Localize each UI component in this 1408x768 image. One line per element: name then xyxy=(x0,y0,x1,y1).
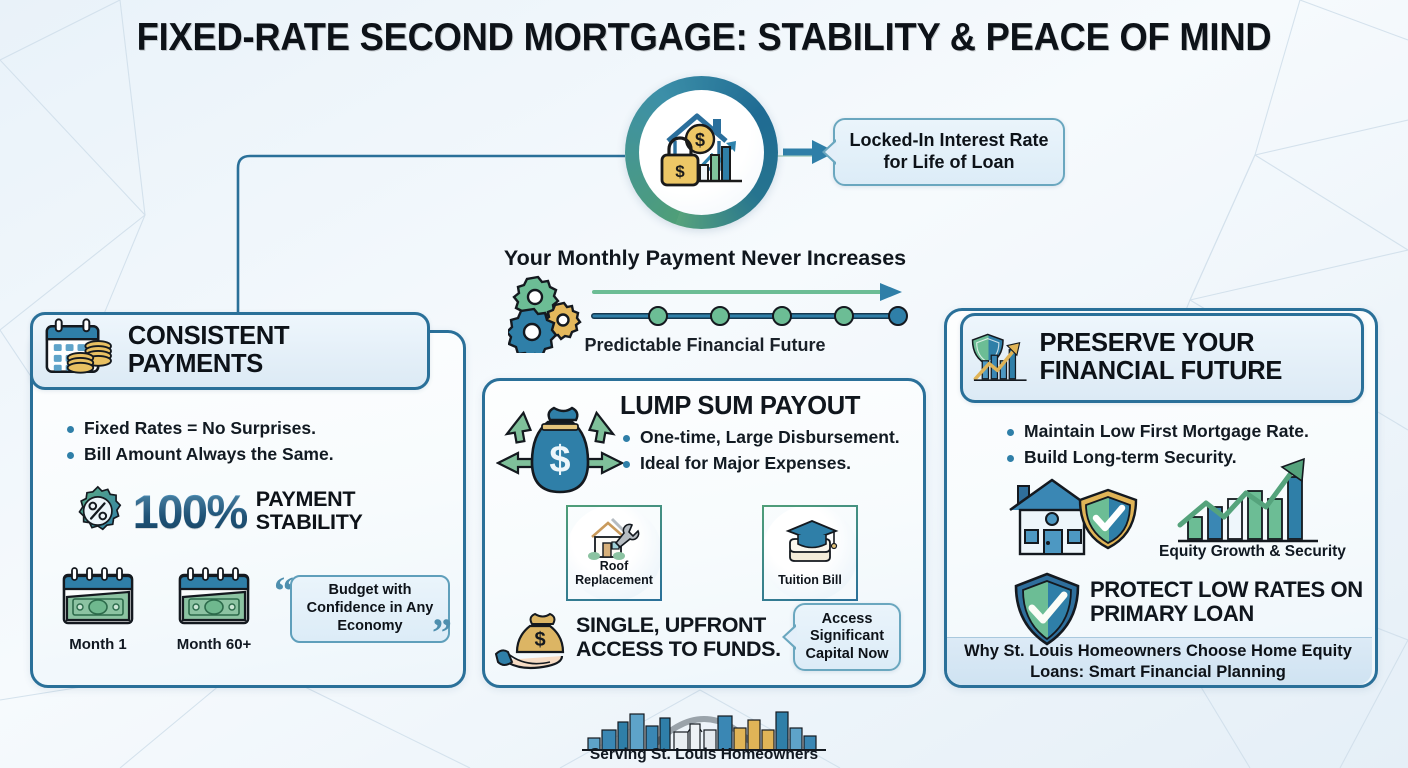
house-wrench-icon xyxy=(586,515,646,563)
callout-locked-rate[interactable]: Locked-In Interest Rate for Life of Loan xyxy=(833,118,1065,186)
footer-tagline: Serving St. Louis Homeowners xyxy=(500,746,908,764)
panel-left-bullets: Fixed Rates = No Surprises. Bill Amount … xyxy=(64,415,434,468)
use-case-tuition-bill[interactable]: Tuition Bill xyxy=(762,505,858,601)
strip-headline: Your Monthly Payment Never Increases xyxy=(440,246,970,271)
list-item: One-time, Large Disbursement. xyxy=(620,424,930,450)
bill-label: Month 60+ xyxy=(166,636,262,653)
strip-subline: Predictable Financial Future xyxy=(440,335,970,356)
central-hub: $ $ xyxy=(625,76,778,229)
panel-left-header: CONSISTENT PAYMENTS xyxy=(30,312,430,390)
right-panel-footer-band: Why St. Louis Homeowners Choose Home Equ… xyxy=(944,637,1372,685)
page-title: FIXED-RATE SECOND MORTGAGE: STABILITY & … xyxy=(49,16,1358,60)
shield-growth-chart-icon xyxy=(967,318,1033,398)
quote-text: Budget with Confidence in Any Economy xyxy=(290,575,450,643)
graduation-books-icon xyxy=(784,517,840,565)
timeline-progression xyxy=(590,280,910,335)
shield-check-icon xyxy=(1010,570,1084,650)
use-case-roof-replacement[interactable]: Roof Replacement xyxy=(566,505,662,601)
panel-left-title: CONSISTENT PAYMENTS xyxy=(128,323,427,378)
list-item: Ideal for Major Expenses. xyxy=(620,450,930,476)
calendar-cash-icon xyxy=(174,566,254,628)
list-item: Fixed Rates = No Surprises. xyxy=(64,415,434,441)
center-footer-statement: SINGLE, UPFRONT ACCESS TO FUNDS. xyxy=(576,614,796,661)
use-case-label: Tuition Bill xyxy=(764,573,856,587)
panel-right-header: PRESERVE YOUR FINANCIAL FUTURE xyxy=(960,313,1364,403)
callout-access-capital[interactable]: Access Significant Capital Now xyxy=(793,603,901,671)
svg-text:$: $ xyxy=(549,439,570,481)
hub-inner: $ $ xyxy=(639,90,764,215)
use-case-label: Roof Replacement xyxy=(568,559,660,587)
svg-text:$: $ xyxy=(534,629,545,651)
quote-block: “ Budget with Confidence in Any Economy … xyxy=(274,575,452,647)
bill-month-1: Month 1 xyxy=(50,566,146,653)
panel-right-title: PRESERVE YOUR FINANCIAL FUTURE xyxy=(1039,330,1361,385)
panel-center-bullets: One-time, Large Disbursement. Ideal for … xyxy=(620,424,930,477)
list-item: Bill Amount Always the Same. xyxy=(64,441,434,467)
protect-statement: PROTECT LOW RATES ON PRIMARY LOAN xyxy=(1090,578,1370,626)
list-item: Maintain Low First Mortgage Rate. xyxy=(1004,418,1374,444)
bill-label: Month 1 xyxy=(50,636,146,653)
payment-stability-stat: 100% PAYMENT STABILITY xyxy=(72,478,432,544)
equity-growth-chart-icon xyxy=(1170,455,1330,555)
stat-label: PAYMENT STABILITY xyxy=(256,488,432,534)
st-louis-skyline-arch-icon xyxy=(578,694,830,752)
panel-center-title: LUMP SUM PAYOUT xyxy=(620,392,940,421)
calendar-cash-icon xyxy=(58,566,138,628)
house-lock-growth-icon: $ $ xyxy=(650,103,754,203)
bill-month-60: Month 60+ xyxy=(166,566,262,653)
stat-number: 100% xyxy=(133,488,247,535)
percent-badge-icon xyxy=(72,480,124,542)
svg-text:$: $ xyxy=(694,130,704,150)
svg-text:$: $ xyxy=(675,162,685,181)
house-shield-check-icon xyxy=(1000,470,1158,562)
quote-close-icon: ” xyxy=(432,613,452,653)
money-bag-arrows-icon: $ xyxy=(496,398,624,508)
calendar-coins-icon xyxy=(39,316,120,382)
equity-chart-label: Equity Growth & Security xyxy=(1150,543,1355,561)
hub-ring: $ $ xyxy=(625,76,778,229)
